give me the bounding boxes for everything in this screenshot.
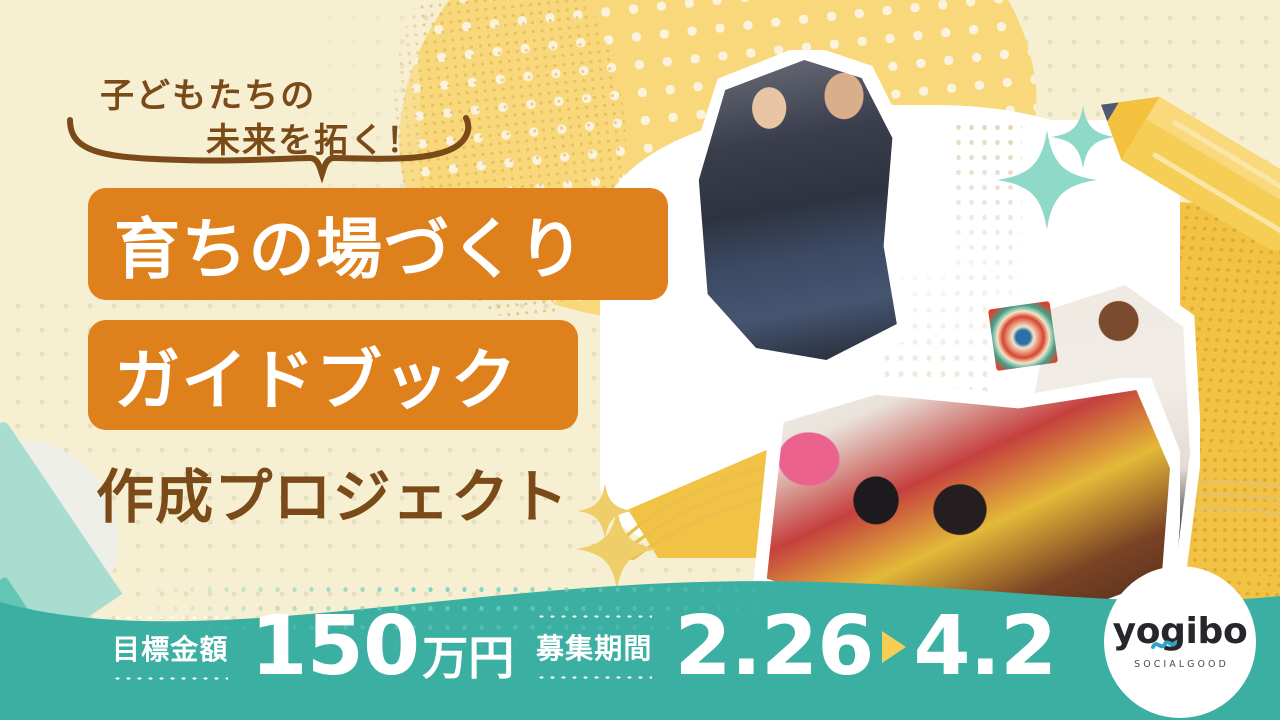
yogibo-squiggle-icon [1151, 636, 1177, 652]
yogibo-wordmark-text: yogibo [1113, 611, 1248, 652]
period-start-date: 2.26 [674, 608, 873, 686]
dotted-line-bottom [112, 676, 228, 681]
stat-goal-label: 目標金額 [112, 628, 228, 668]
title-chip-2: ガイドブック [88, 320, 578, 430]
period-end-date: 4.2 [914, 608, 1057, 686]
kicker-line-1: 子どもたちの [100, 76, 316, 116]
yogibo-tagline: SOCIALGOOD [1131, 659, 1229, 670]
title-chip-1: 育ちの場づくり [88, 188, 668, 300]
stat-goal-label-wrap: 目標金額 [112, 615, 228, 681]
title-chip-1-label: 育ちの場づくり [114, 196, 585, 292]
dotted-line-top [536, 614, 652, 619]
title-chip-2-label: ガイドブック [114, 327, 518, 423]
yogibo-wordmark: yogibo [1113, 614, 1248, 650]
stat-goal-amount: 目標金額 150 万円 [112, 608, 514, 688]
stat-goal-unit: 万円 [422, 622, 514, 688]
sparkle-star-icon-small [1050, 104, 1116, 170]
stat-period-label: 募集期間 [536, 627, 652, 667]
dotted-line-bottom [536, 675, 652, 680]
campaign-banner: 子どもたちの 未来を拓く！ 育ちの場づくり ガイドブック 作成プロジェクト 目標… [0, 0, 1280, 720]
play-triangle-icon [882, 631, 906, 663]
stat-campaign-period: 募集期間 2.26 4.2 [536, 608, 1056, 686]
stat-period-value: 2.26 4.2 [674, 608, 1056, 686]
picture-book-prop [988, 301, 1058, 371]
dotted-line-top [112, 615, 228, 620]
title-line-3: 作成プロジェクト [96, 450, 569, 534]
curly-brace-underline-icon [62, 112, 502, 192]
stat-goal-value: 150 万円 [250, 608, 514, 688]
yogibo-logo: yogibo SOCIALGOOD [1104, 566, 1256, 718]
stat-period-label-wrap: 募集期間 [536, 614, 652, 680]
stat-goal-number: 150 [250, 608, 419, 686]
